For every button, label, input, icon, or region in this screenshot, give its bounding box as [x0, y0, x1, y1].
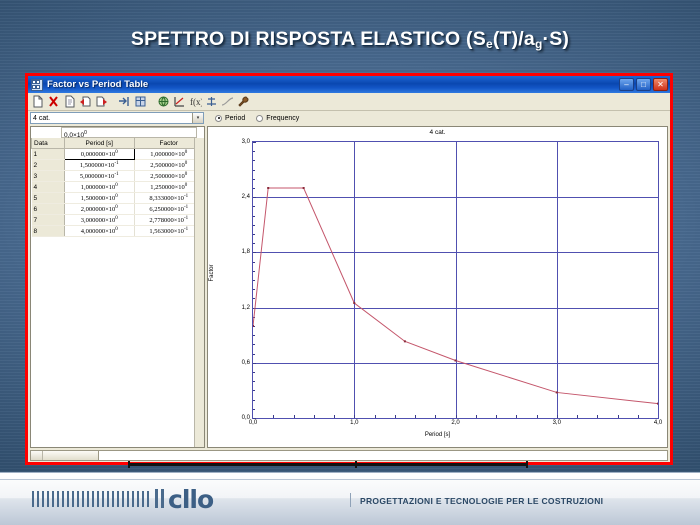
category-select[interactable]: 4 cat. ▾	[30, 112, 204, 124]
chart-series-layer	[253, 142, 658, 418]
chart-y-tick-label: 1,2	[242, 305, 250, 311]
chart-panel: 4 cat. Factor 0,00,61,21,82,43,00,01,02,…	[207, 126, 668, 448]
chart-y-tick-label: 3,0	[242, 139, 250, 145]
scrollbar-track[interactable]	[99, 451, 667, 460]
period-cell[interactable]: 5,000000×10-1	[65, 171, 135, 182]
table-row[interactable]: 51,500000×1008,333000×10-1	[32, 193, 204, 204]
radio-period-indicator[interactable]	[215, 115, 222, 122]
title-part-3: ·S)	[543, 28, 570, 50]
maximize-button[interactable]: □	[636, 78, 651, 91]
table-row[interactable]: 35,000000×10-12,500000×100	[32, 171, 204, 182]
window-client-area: 0,0×100 Data Period [s] Factor 10,000000…	[28, 125, 670, 462]
chart-data-point	[657, 403, 658, 405]
annotation-bar	[128, 463, 528, 466]
chart-plot-area[interactable]: 0,00,61,21,82,43,00,01,02,03,04,0	[252, 141, 659, 419]
data-table-panel: 0,0×100 Data Period [s] Factor 10,000000…	[30, 126, 205, 448]
presentation-slide: SPETTRO DI RISPOSTA ELASTICO (Se(T)/ag·S…	[0, 0, 700, 525]
row-index-cell[interactable]: 2	[32, 160, 65, 171]
footer-vertical-rule	[350, 493, 351, 507]
insert-row-icon[interactable]	[118, 95, 131, 108]
chart-x-axis-label: Period [s]	[208, 432, 667, 438]
period-cell[interactable]: 1,500000×10-1	[65, 160, 135, 171]
cell-editor-mantissa: 0,0×10	[64, 132, 84, 139]
copy-document-icon[interactable]	[63, 95, 76, 108]
chart-series-line	[253, 188, 658, 404]
chart-data-point	[404, 340, 406, 342]
period-factor-table: Data Period [s] Factor 10,000000×1001,00…	[31, 138, 204, 237]
window-controls: – □ ✕	[619, 78, 668, 91]
title-part-1: SPETTRO DI RISPOSTA ELASTICO (S	[131, 28, 486, 50]
cell-editor-input[interactable]: 0,0×100	[61, 127, 197, 138]
chart-x-tick-label: 1,0	[350, 420, 358, 426]
period-cell[interactable]: 3,000000×100	[65, 215, 135, 226]
title-sub-g: g	[535, 37, 543, 51]
grid-properties-icon[interactable]	[134, 95, 147, 108]
page-title: SPETTRO DI RISPOSTA ELASTICO (Se(T)/ag·S…	[0, 28, 700, 51]
export-red-icon[interactable]	[95, 95, 108, 108]
period-cell[interactable]: 0,000000×100	[65, 149, 135, 160]
radio-frequency[interactable]: Frequency	[256, 115, 299, 122]
svg-text:f(x): f(x)	[190, 97, 202, 107]
scrollbar-thumb[interactable]	[43, 451, 99, 460]
period-cell[interactable]: 4,000000×100	[65, 226, 135, 237]
wrench-tools-icon[interactable]	[237, 95, 250, 108]
cell-editor-exponent: 0	[84, 130, 87, 136]
footer-tagline: PROGETTAZIONI E TECNOLOGIE PER LE COSTRU…	[360, 496, 603, 506]
slide-footer: cllo PROGETTAZIONI E TECNOLOGIE PER LE C…	[0, 472, 700, 525]
filter-bar: 4 cat. ▾ Period Frequency	[28, 111, 670, 125]
table-row[interactable]: 21,500000×10-12,500000×100	[32, 160, 204, 171]
chart-data-point	[556, 391, 558, 393]
period-cell[interactable]: 2,000000×100	[65, 204, 135, 215]
row-index-cell[interactable]: 3	[32, 171, 65, 182]
import-red-icon[interactable]	[79, 95, 92, 108]
footer-divider	[0, 479, 700, 480]
brand-logo: cllo	[168, 485, 213, 514]
scale-units-icon[interactable]	[205, 95, 218, 108]
chevron-down-icon[interactable]: ▾	[192, 113, 203, 123]
grid-table-icon	[31, 79, 43, 91]
col-header-data[interactable]: Data	[32, 138, 65, 149]
function-fx-icon[interactable]: f(x)	[189, 95, 202, 108]
radio-period-label: Period	[225, 115, 245, 122]
delete-row-icon[interactable]	[47, 95, 60, 108]
table-row[interactable]: 41,000000×1001,250000×100	[32, 182, 204, 193]
chart-data-point	[267, 187, 269, 189]
annotation-bar-tick	[355, 461, 357, 468]
row-index-cell[interactable]: 1	[32, 149, 65, 160]
window-titlebar[interactable]: Factor vs Period Table – □ ✕	[28, 76, 670, 93]
horizontal-scrollbar[interactable]	[30, 450, 668, 461]
row-index-cell[interactable]: 6	[32, 204, 65, 215]
chart-axis-icon[interactable]	[173, 95, 186, 108]
title-part-2: (T)/a	[493, 28, 535, 50]
period-cell[interactable]: 1,500000×100	[65, 193, 135, 204]
row-index-cell[interactable]: 7	[32, 215, 65, 226]
chart-y-axis-label: Factor	[209, 264, 215, 281]
period-cell[interactable]: 1,000000×100	[65, 182, 135, 193]
window-title: Factor vs Period Table	[47, 79, 148, 90]
chart-x-tick-label: 3,0	[553, 420, 561, 426]
new-document-icon[interactable]	[31, 95, 44, 108]
window-toolbar: f(x)	[28, 93, 670, 111]
grid-right-filler	[194, 138, 204, 447]
chart-x-tick-label: 0,0	[249, 420, 257, 426]
table-row[interactable]: 73,000000×1002,778000×10-1	[32, 215, 204, 226]
title-sub-e: e	[486, 37, 493, 51]
chart-x-tick-label: 2,0	[451, 420, 459, 426]
row-index-cell[interactable]: 8	[32, 226, 65, 237]
chart-data-point	[253, 325, 254, 327]
chart-y-tick-label: 1,8	[242, 249, 250, 255]
chart-data-point	[353, 302, 355, 304]
category-select-value: 4 cat.	[33, 115, 50, 122]
radio-period[interactable]: Period	[215, 115, 245, 122]
close-button[interactable]: ✕	[653, 78, 668, 91]
globe-settings-icon[interactable]	[157, 95, 170, 108]
chart-data-point	[303, 187, 305, 189]
table-body: 10,000000×1001,000000×10021,500000×10-12…	[32, 149, 204, 237]
table-row[interactable]: 62,000000×1006,250000×10-1	[32, 204, 204, 215]
data-grid[interactable]: Data Period [s] Factor 10,000000×1001,00…	[31, 138, 204, 447]
logo-bars-icon	[32, 491, 150, 507]
chart-y-tick-label: 0,6	[242, 360, 250, 366]
radio-frequency-label: Frequency	[266, 115, 299, 122]
col-header-period[interactable]: Period [s]	[65, 138, 135, 149]
table-row[interactable]: 10,000000×1001,000000×100	[32, 149, 204, 160]
table-header-row: Data Period [s] Factor	[32, 138, 204, 149]
radio-frequency-indicator[interactable]	[256, 115, 263, 122]
row-index-cell[interactable]: 5	[32, 193, 65, 204]
row-index-cell[interactable]: 4	[32, 182, 65, 193]
app-window-red-highlight: Factor vs Period Table – □ ✕	[25, 73, 673, 465]
chart-title: 4 cat.	[208, 129, 667, 136]
curve-tool-icon[interactable]	[221, 95, 234, 108]
table-row[interactable]: 84,000000×1001,563000×10-1	[32, 226, 204, 237]
logo-bars-2-icon	[155, 489, 164, 508]
chart-data-point	[455, 360, 457, 362]
chart-x-tick-label: 4,0	[654, 420, 662, 426]
chart-y-tick	[253, 418, 256, 419]
chart-y-tick-label: 2,4	[242, 194, 250, 200]
minimize-button[interactable]: –	[619, 78, 634, 91]
scroll-left-arrow-icon[interactable]	[31, 451, 43, 460]
